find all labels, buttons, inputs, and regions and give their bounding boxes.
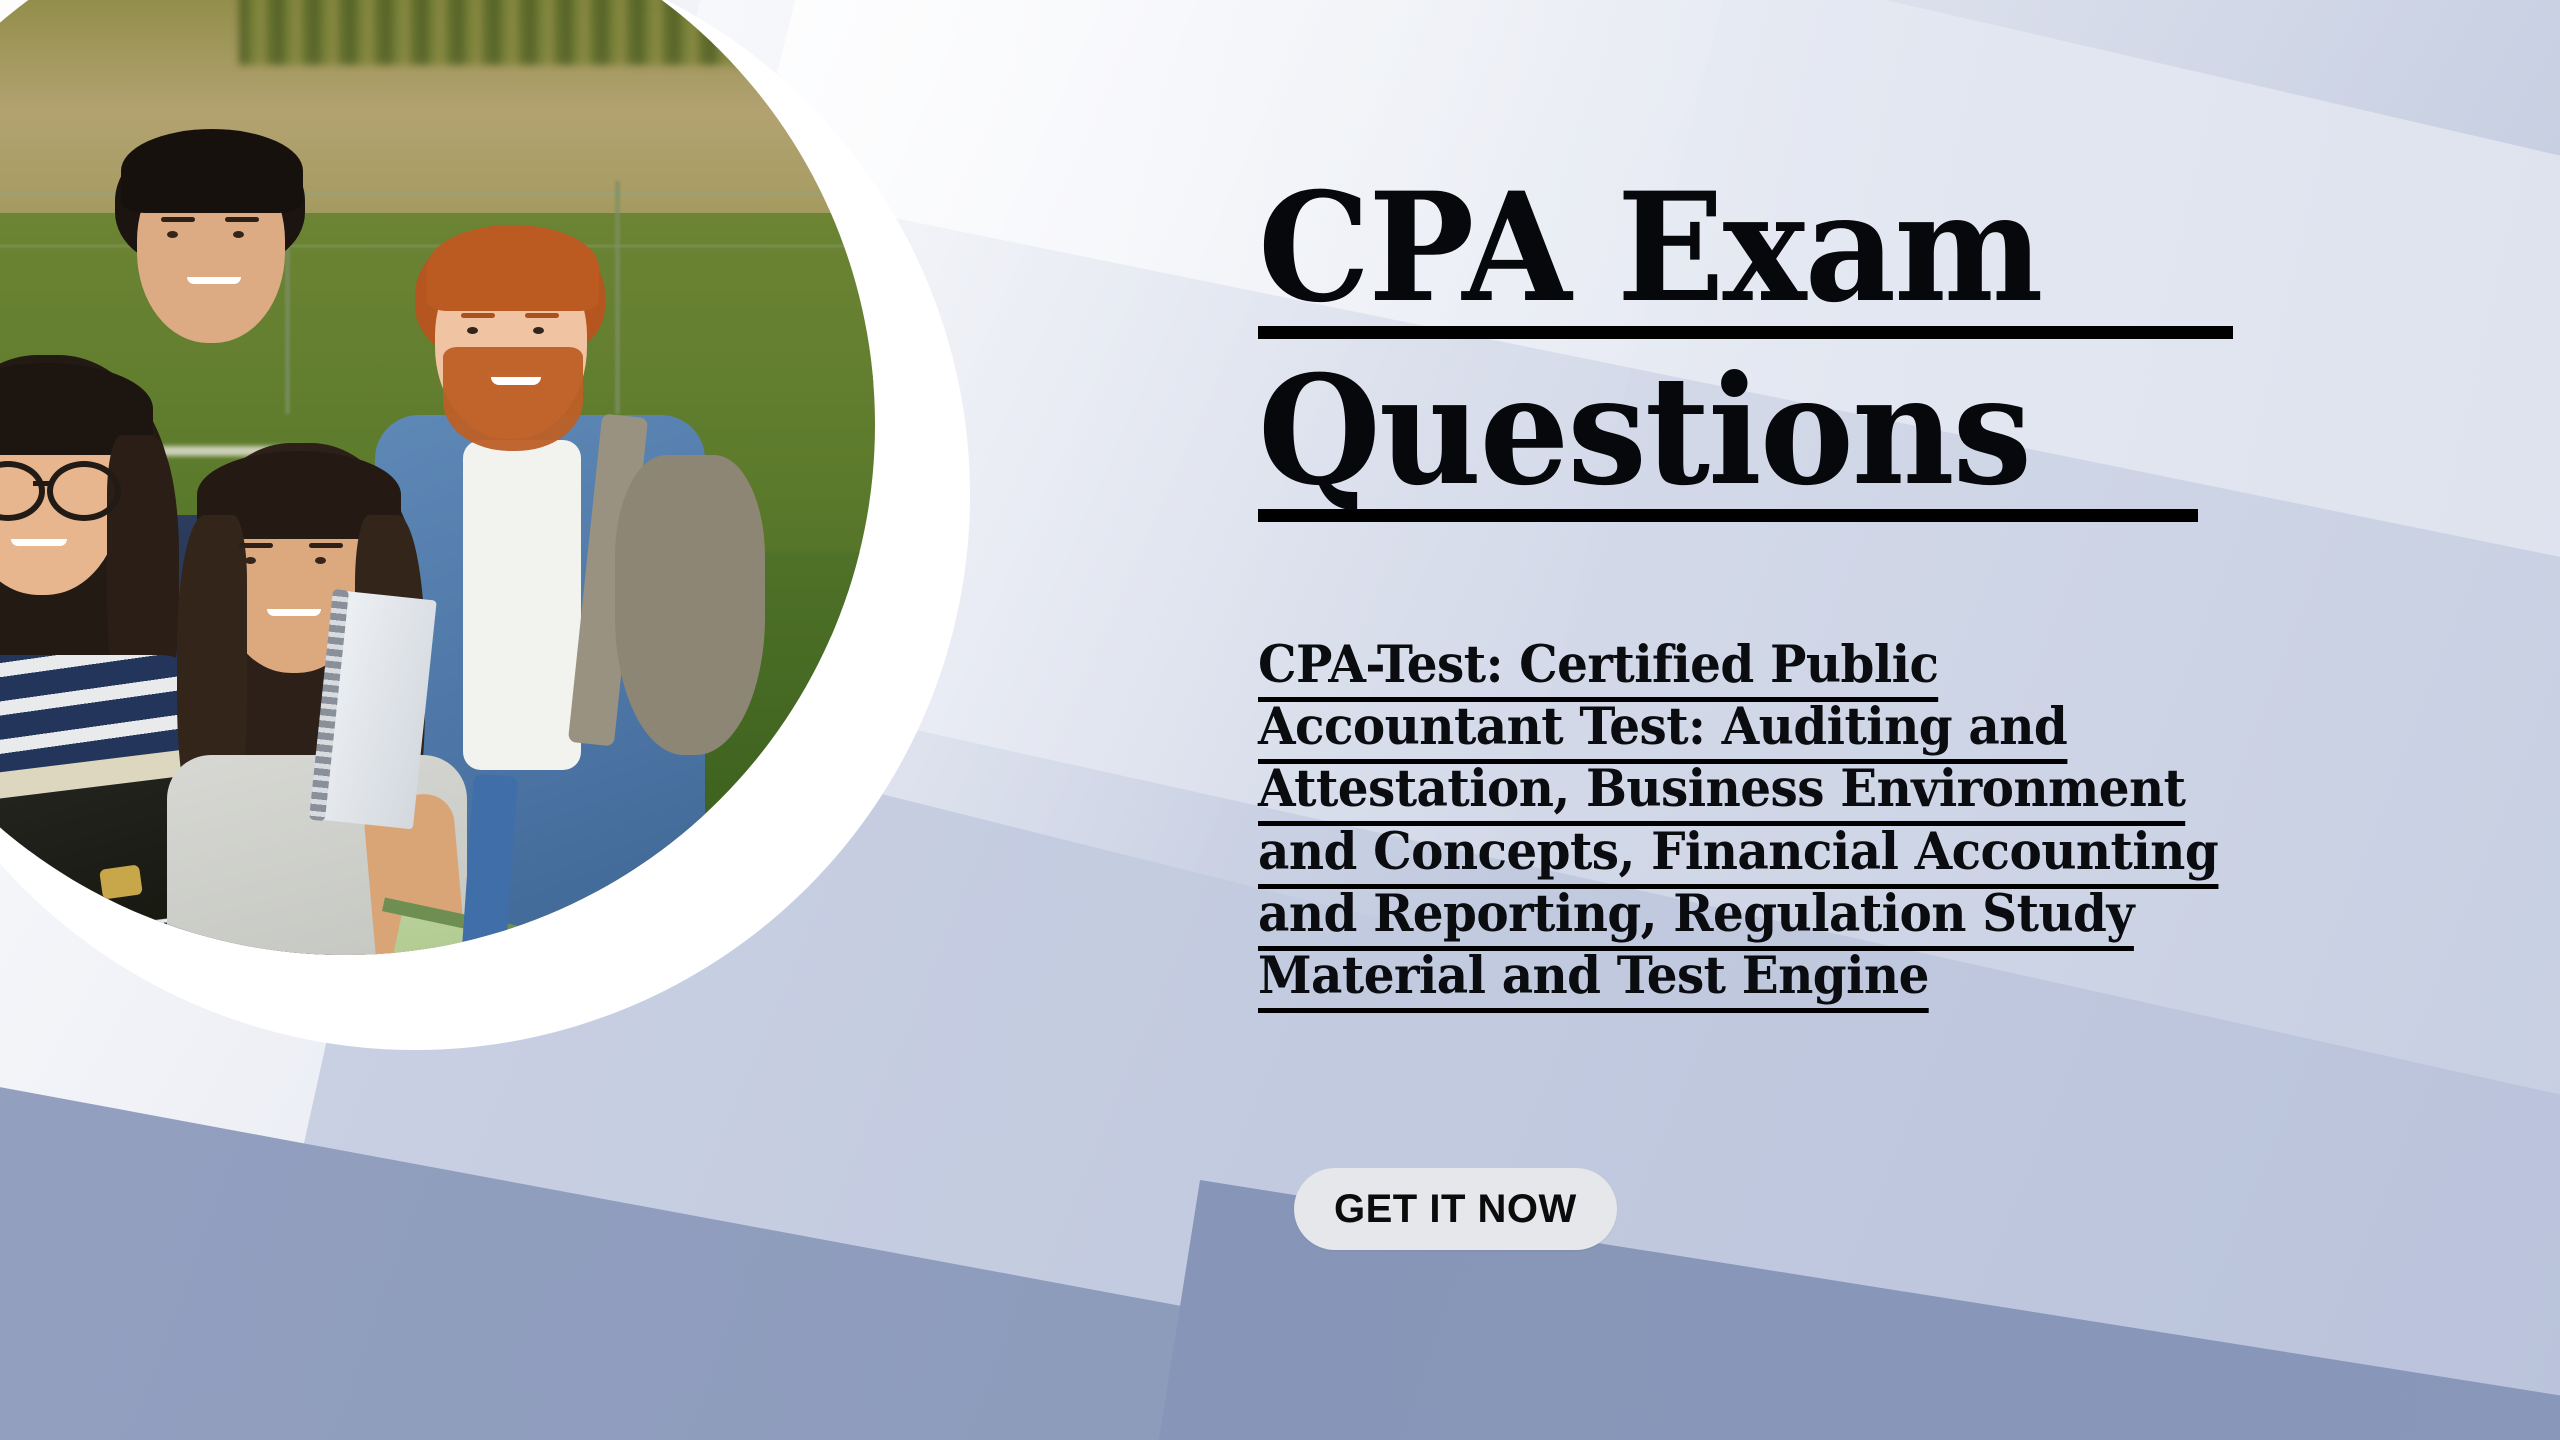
subtitle-line: Attestation, Business Environment: [1258, 758, 2265, 820]
banner-content: CPA Exam Questions CPA-Test: Certified P…: [1258, 0, 2278, 1440]
get-it-now-button[interactable]: GET IT NOW: [1294, 1168, 1617, 1250]
students-photo: [0, 0, 875, 955]
title-line-2: Questions: [1258, 359, 2217, 503]
subtitle-line: and Reporting, Regulation Study: [1258, 883, 2265, 945]
subtitle-line: Accountant Test: Auditing and: [1258, 696, 2265, 758]
page-title: CPA Exam Questions: [1258, 176, 2278, 542]
eyeglass-lens-right: [47, 461, 121, 521]
subtitle-line: Material and Test Engine: [1258, 945, 2265, 1007]
subtitle: CPA-Test: Certified Public Accountant Te…: [1258, 634, 2318, 1007]
title-line-1: CPA Exam: [1258, 176, 2217, 320]
subtitle-line: and Concepts, Financial Accounting: [1258, 821, 2265, 883]
cta-container: GET IT NOW: [1294, 1168, 1617, 1250]
wristwatch: [99, 864, 143, 899]
photo-fence-post: [615, 181, 620, 414]
subtitle-line: CPA-Test: Certified Public: [1258, 634, 2265, 696]
cpa-exam-promo-banner: CPA Exam Questions CPA-Test: Certified P…: [0, 0, 2560, 1440]
photo-treeline: [239, 0, 875, 65]
photo-scene: [0, 0, 875, 955]
